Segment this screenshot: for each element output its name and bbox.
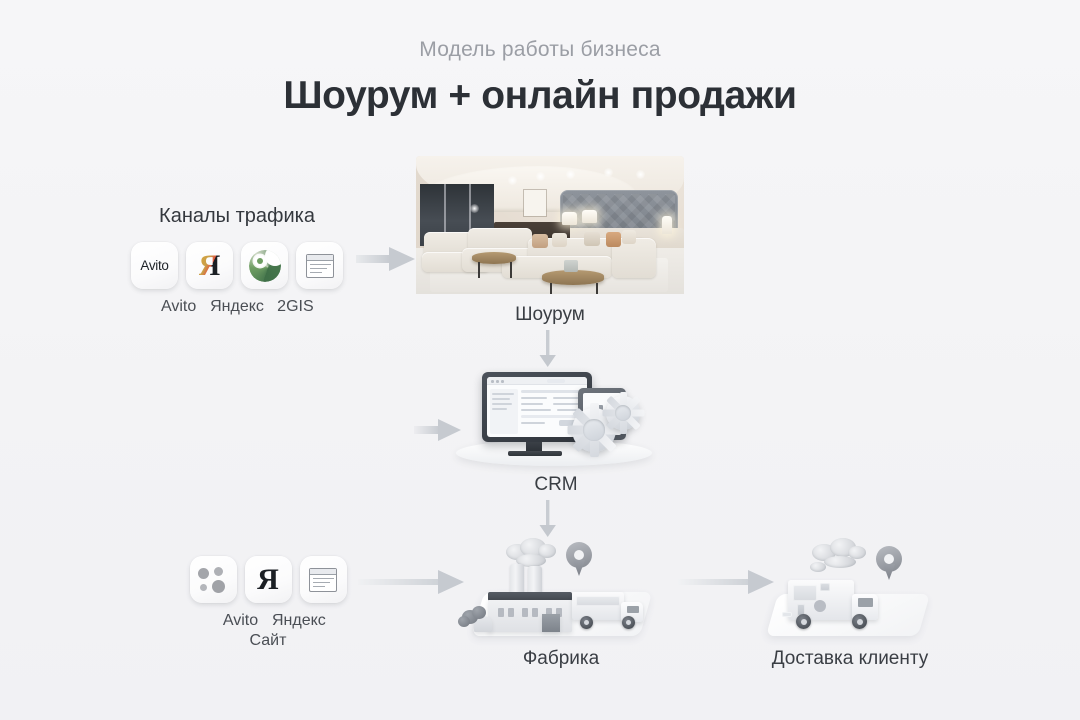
arrow-channels-to-showroom bbox=[356, 244, 418, 279]
website-document-icon bbox=[306, 254, 334, 278]
chip-yandex-bottom[interactable]: Я bbox=[245, 556, 292, 603]
slide-canvas: Модель работы бизнеса Шоурум + онлайн пр… bbox=[0, 0, 1080, 720]
caption-site-bottom: Сайт bbox=[185, 632, 351, 650]
avito-dots-icon bbox=[198, 566, 228, 594]
website-document-icon bbox=[309, 568, 337, 592]
factory-illustration bbox=[456, 536, 666, 644]
traffic-channels-bottom-captions: Avito Яндекс bbox=[185, 612, 351, 630]
traffic-channels-title: Каналы трафика bbox=[126, 205, 348, 228]
crm-label: CRM bbox=[456, 474, 656, 496]
arrow-channels-to-factory bbox=[358, 565, 468, 604]
caption-yandex-top: Яндекс bbox=[210, 298, 264, 316]
traffic-channels-top-group: Каналы трафика Avito Я bbox=[126, 205, 348, 316]
traffic-channels-bottom-group: Я Avito Яндекс Сайт bbox=[185, 556, 351, 650]
caption-yandex-bottom: Яндекс bbox=[272, 612, 319, 630]
traffic-channels-bottom-chips: Я bbox=[185, 556, 351, 603]
delivery-label: Доставка клиенту bbox=[752, 648, 948, 670]
traffic-channels-top-captions: Avito Яндекс 2GIS bbox=[126, 298, 348, 316]
factory-label: Фабрика bbox=[456, 648, 666, 670]
location-pin-icon bbox=[876, 546, 902, 580]
caption-2gis-top: 2GIS bbox=[272, 298, 319, 316]
chip-avito-bottom[interactable] bbox=[190, 556, 237, 603]
traffic-channels-top-chips: Avito Я bbox=[126, 242, 348, 289]
factory-node: Фабрика bbox=[456, 536, 666, 671]
delivery-illustration bbox=[752, 536, 948, 644]
location-pin-icon bbox=[566, 542, 592, 576]
crm-node: CRM bbox=[456, 366, 656, 501]
slide-kicker: Модель работы бизнеса bbox=[0, 38, 1080, 62]
delivery-node: Доставка клиенту bbox=[752, 536, 948, 671]
yandex-ya-icon: Я bbox=[199, 251, 221, 281]
avito-wordmark-icon: Avito bbox=[140, 258, 168, 273]
2gis-icon bbox=[249, 250, 281, 282]
showroom-photo bbox=[416, 156, 684, 294]
chip-2gis-top[interactable] bbox=[241, 242, 288, 289]
chip-website-bottom[interactable] bbox=[300, 556, 347, 603]
caption-avito-bottom: Avito bbox=[217, 612, 264, 630]
showroom-label: Шоурум bbox=[416, 304, 684, 326]
chip-avito-top[interactable]: Avito bbox=[131, 242, 178, 289]
chip-yandex-top[interactable]: Я bbox=[186, 242, 233, 289]
showroom-node: Шоурум bbox=[416, 156, 684, 326]
yandex-ya-icon: Я bbox=[257, 565, 279, 595]
page-title: Шоурум + онлайн продажи bbox=[0, 74, 1080, 118]
chip-website-top[interactable] bbox=[296, 242, 343, 289]
crm-illustration bbox=[456, 366, 656, 466]
caption-avito-top: Avito bbox=[155, 298, 202, 316]
crm-gear-icon-small bbox=[606, 396, 640, 430]
